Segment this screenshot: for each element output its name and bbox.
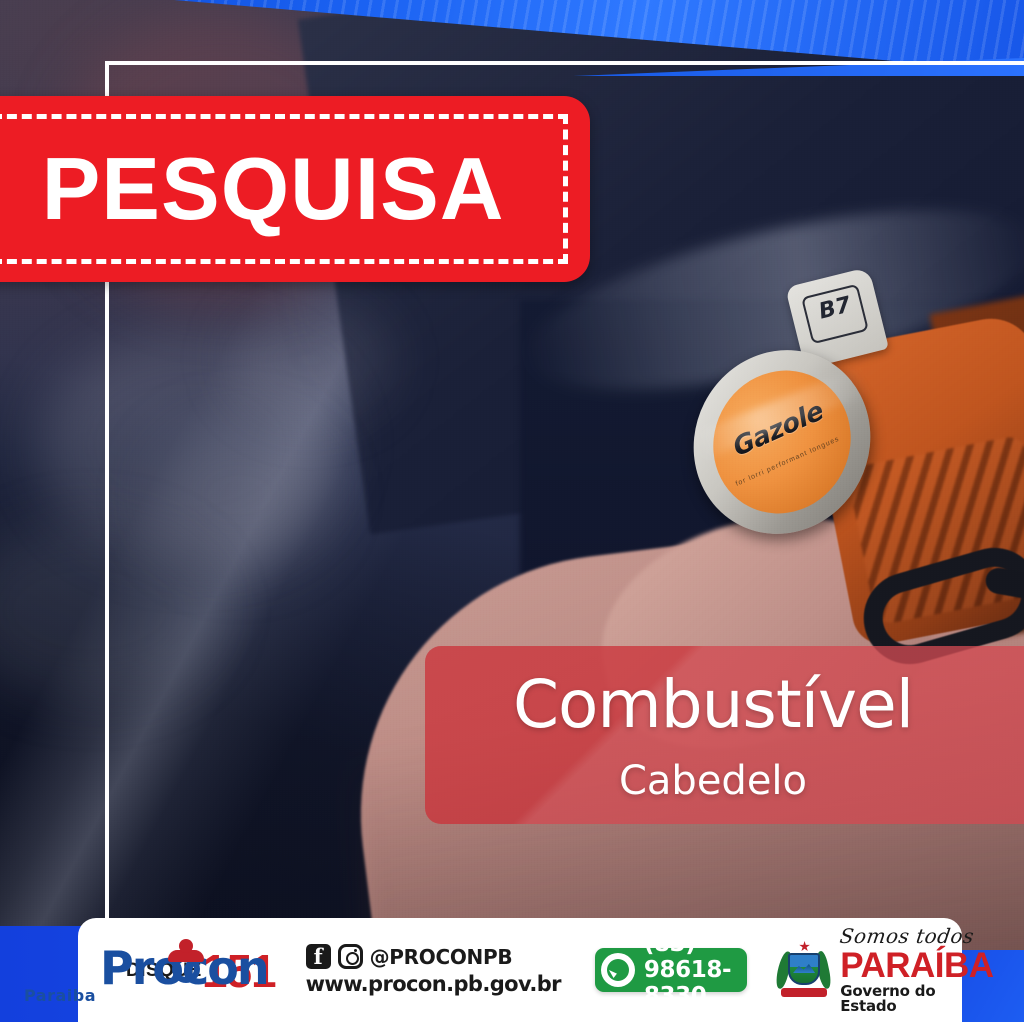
poster-canvas: B7 Gazole for lorri performant longues P… xyxy=(0,0,1024,1022)
crest-ribbon-icon xyxy=(781,988,827,997)
government-tagline: Somos todos xyxy=(839,926,976,946)
badge-label: PESQUISA xyxy=(0,96,590,282)
crest-shield-icon xyxy=(788,953,820,985)
instagram-icon[interactable] xyxy=(338,944,363,969)
government-subtitle: Governo do Estado xyxy=(840,984,994,1014)
social-handle: @PROCONPB xyxy=(370,945,513,969)
facebook-icon[interactable] xyxy=(306,944,331,969)
social-handles-row: @PROCONPB xyxy=(306,944,561,969)
procon-logo-state: Paraiba xyxy=(24,986,96,1005)
procon-person-head-icon xyxy=(179,939,193,953)
page-title: Combustível xyxy=(425,670,1001,739)
frame-line-top xyxy=(105,61,1024,65)
paraiba-coat-of-arms-icon xyxy=(775,939,832,1001)
government-wordmark: Somos todos PARAÍBA Governo do Estado xyxy=(840,926,994,1014)
government-state-name: PARAÍBA xyxy=(840,948,994,983)
page-subtitle: Cabedelo xyxy=(425,758,1001,804)
whatsapp-button[interactable]: (83) 98618-8330 xyxy=(595,948,747,992)
pesquisa-badge: PESQUISA xyxy=(0,96,590,282)
social-block: @PROCONPB www.procon.pb.gov.br xyxy=(306,944,561,996)
website-url[interactable]: www.procon.pb.gov.br xyxy=(306,972,561,996)
footer-bar: Procon Paraiba DISQUE 151 @PROCONPB www.… xyxy=(78,918,962,1022)
title-card: Combustível Cabedelo xyxy=(425,646,1024,824)
whatsapp-icon xyxy=(601,953,635,987)
government-logo: Somos todos PARAÍBA Governo do Estado xyxy=(775,926,994,1014)
crest-star-icon xyxy=(799,941,810,952)
whatsapp-number: (83) 98618-8330 xyxy=(644,931,731,1009)
